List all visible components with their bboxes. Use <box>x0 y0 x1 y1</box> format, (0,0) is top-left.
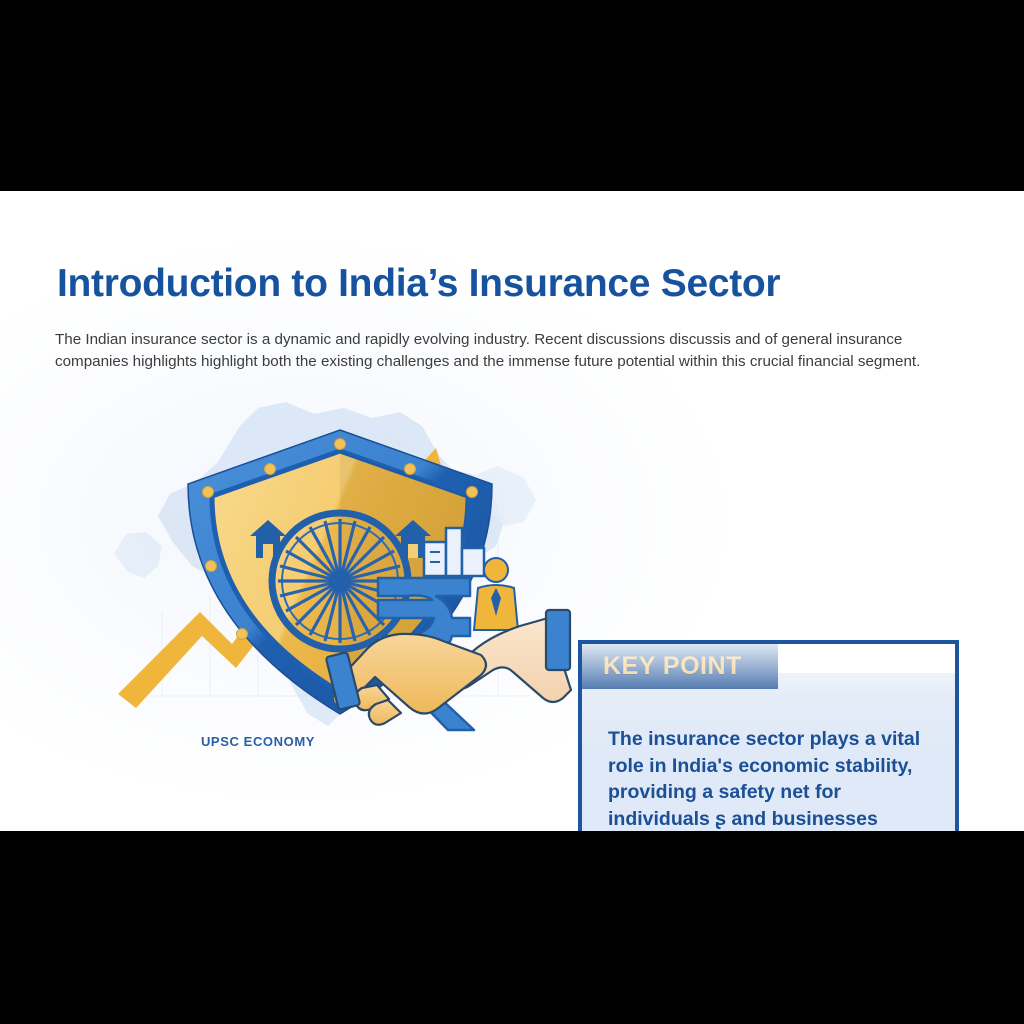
insurance-illustration <box>100 396 580 771</box>
letterbox-top <box>0 0 1024 191</box>
key-point-header-label: KEY POINT <box>603 652 742 681</box>
key-point-white-strip <box>778 644 955 673</box>
key-point-header: KEY POINT <box>582 644 778 689</box>
page-title: Introduction to India’s Insurance Sector <box>57 262 780 306</box>
screenshot-stage: Introduction to India’s Insurance Sector… <box>0 0 1024 1024</box>
illustration-caption: UPSC ECONOMY <box>100 734 416 749</box>
slide-canvas: Introduction to India’s Insurance Sector… <box>0 191 1024 831</box>
intro-paragraph: The Indian insurance sector is a dynamic… <box>55 329 929 372</box>
letterbox-bottom <box>0 831 1024 1024</box>
